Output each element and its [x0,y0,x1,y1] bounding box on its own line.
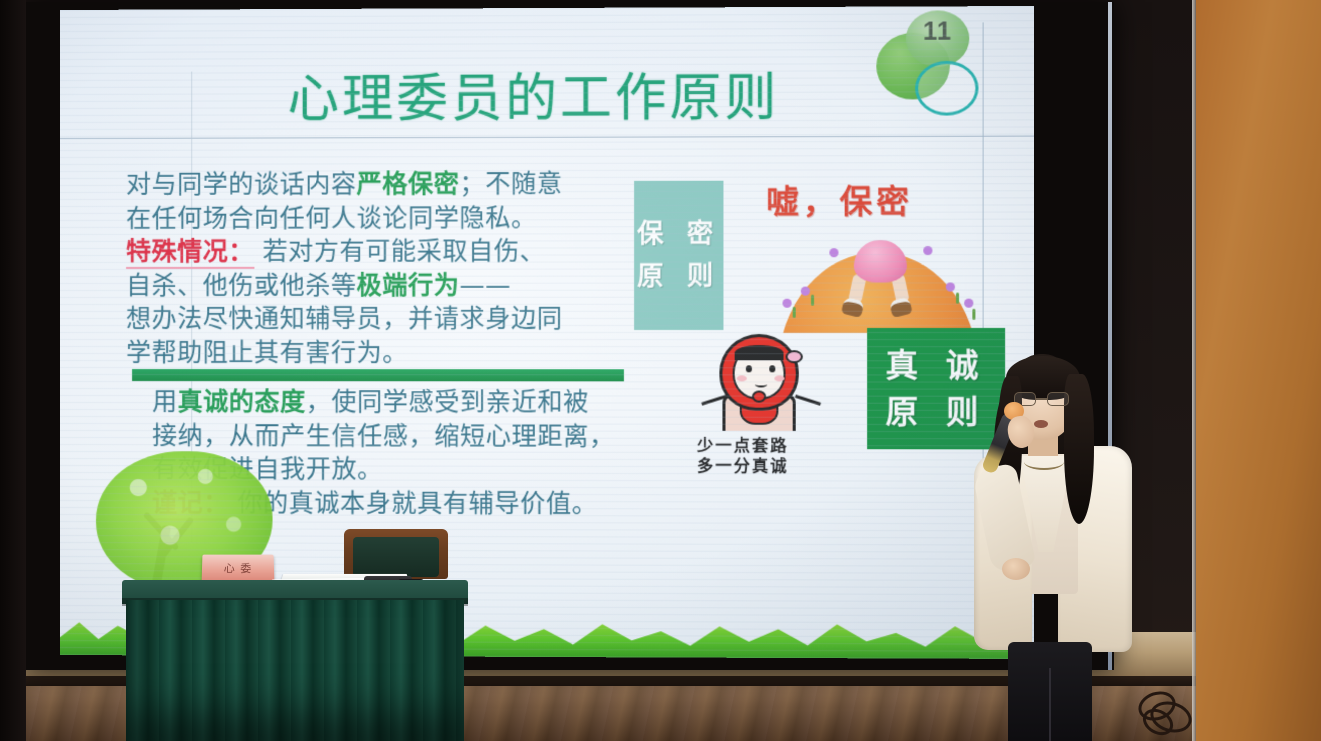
girl-mouth [755,381,767,387]
presenter-glasses [1014,392,1072,406]
flower-icon [782,299,791,308]
p1-emph-strict-confidentiality: 严格保密 [357,169,460,198]
p1-emph-special-case: 特殊情况： [126,237,254,269]
flower-icon [964,299,973,308]
p2-line1-a: 用 [152,387,178,416]
p1-emph-extreme-behavior: 极端行为 [357,270,460,299]
confidentiality-box-line-1: 保 密 [637,219,720,249]
right-wall-panel [1196,0,1321,741]
flower-icon [829,248,838,257]
name-card-text: 心 委 [202,560,274,576]
grass-tuft [956,293,959,304]
confidentiality-principle-box: 保 密 原 则 [634,181,723,330]
presentation-scene: 11 心理委员的工作原则 对与同学的谈话内容严格保密；不随意 在任何场合向任何人… [0,0,1321,741]
flower-icon [801,287,810,296]
presenter-trouser-seam [1049,668,1051,741]
child-pink-skirt [854,240,907,282]
table-skirt [126,600,464,741]
page-number-label: 11 [906,17,969,47]
chair-padding [353,537,439,577]
section-divider-bar [132,369,624,381]
glasses-lens-right [1047,392,1069,406]
girl-arm-right [795,395,821,406]
paragraph-confidentiality: 对与同学的谈话内容严格保密；不随意 在任何场合向任何人谈论同学隐私。 特殊情况：… [126,167,600,369]
girl-caption-line-1: 少一点套路 [697,436,789,456]
confidentiality-box-line-2: 原 则 [637,261,720,291]
flower-icon [946,282,955,291]
p2-line1-b: ，使同学感受到亲近和被 [306,387,589,416]
girl-caption: 少一点套路 多一分真诚 [697,436,789,476]
presenter-necklace [1024,454,1064,470]
p1-line5: 想办法尽快通知辅导员，并请求身边同 [126,304,563,333]
p2-emph-sincere-attitude: 真诚的态度 [178,387,306,416]
grass-tuft [793,307,796,318]
p1-line4-a: 自杀、他伤或他杀等 [126,270,357,299]
p2-line4: 你的真诚本身就具有辅导价值。 [229,488,598,518]
p1-line4-b: —— [459,270,511,299]
p1-line3: 若对方有可能采取自伤、 [254,236,545,265]
presenter-hand-gesture [1002,558,1030,580]
girl-eye-right [769,365,775,372]
speaker-table: 心 委 [122,580,468,741]
presenter [946,350,1156,741]
p1-line1-b: ；不随意 [459,169,562,198]
flower-icon [923,246,932,255]
girl-eye-left [746,365,752,372]
glasses-bridge [1036,398,1047,400]
p2-line2: 接纳，从而产生信任感，缩短心理距离， [152,421,615,451]
page-number-badge: 11 [868,10,991,110]
girl-cheek-right [774,375,784,381]
slide-title: 心理委员的工作原则 [210,69,858,129]
girl-hair-fringe [735,345,784,360]
badge-circle-outline [915,61,978,116]
shh-keep-secret-text: 嘘，保密 [766,176,913,223]
hill-child-illustration [756,224,991,333]
p1-line1-a: 对与同学的谈话内容 [126,169,357,199]
grass-tuft [811,295,814,306]
girl-caption-line-2: 多一分真诚 [697,456,789,476]
girl-cape-knot [752,391,766,403]
girl-bow-icon [786,350,803,363]
left-wall-shadow [0,0,26,741]
presenter-mouth [1034,420,1048,428]
floor-cables [1136,688,1196,734]
red-hood-girl-illustration [701,332,821,445]
grass-tuft [972,309,975,320]
p1-line2: 在任何场合向任何人谈论同学隐私。 [126,203,537,233]
p1-line6: 学帮助阻止其有害行为。 [126,338,408,367]
girl-cheek-left [737,375,747,381]
title-divider-line [60,136,1034,139]
